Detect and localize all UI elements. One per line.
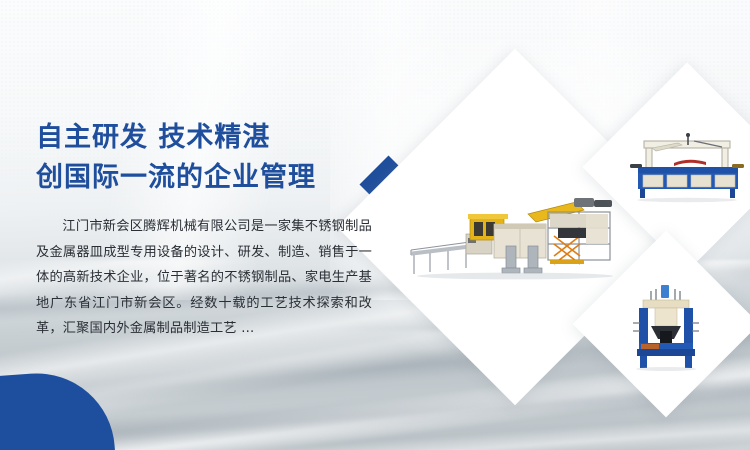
production-line-photo xyxy=(408,184,622,284)
banner-copy: 自主研发 技术精湛 创国际一流的企业管理 江门市新会区腾辉机械有限公司是一家集不… xyxy=(36,118,376,342)
forming-machine-tile-inner xyxy=(613,93,750,241)
press-machine-photo xyxy=(627,283,705,371)
forming-machine-photo xyxy=(626,131,748,203)
company-description: 江门市新会区腾辉机械有限公司是一家集不锈钢制品及金属器皿成型专用设备的设计、研发… xyxy=(36,214,372,342)
headline-line-2: 创国际一流的企业管理 xyxy=(36,158,376,198)
press-machine-tile[interactable] xyxy=(573,231,750,418)
press-machine-tile-inner xyxy=(600,258,732,390)
company-profile-banner: 自主研发 技术精湛 创国际一流的企业管理 江门市新会区腾辉机械有限公司是一家集不… xyxy=(0,0,750,450)
headline-line-1: 自主研发 技术精湛 xyxy=(36,118,376,158)
